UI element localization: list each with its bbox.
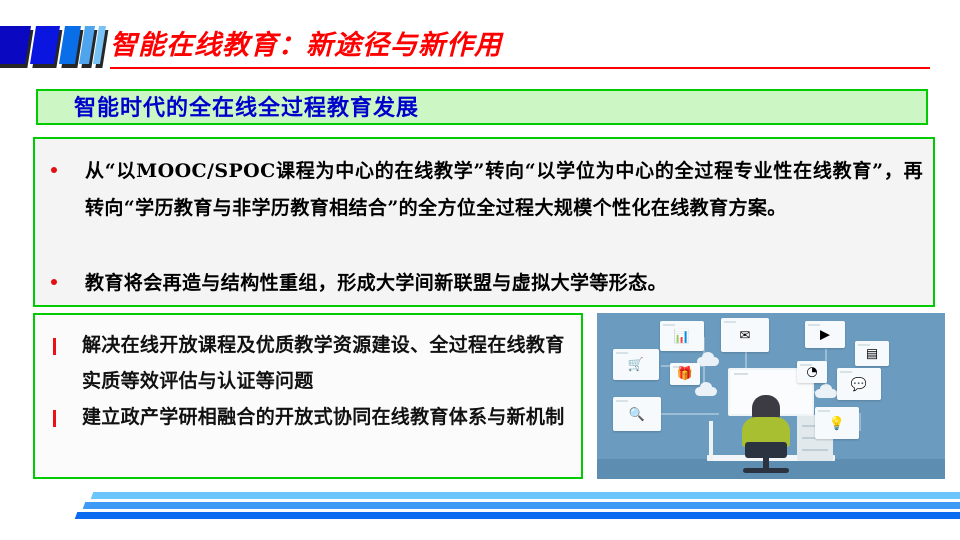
logo-bar-3 — [59, 26, 81, 64]
dot-bullet-icon — [51, 167, 57, 173]
card-email-glyph: ✉ — [740, 329, 751, 342]
main-bullet-item-2: 教育将会再造与结构性重组，形成大学间新联盟与虚拟大学等形态。 — [45, 265, 923, 302]
dot-bullet-icon — [51, 279, 57, 285]
subtitle-text: 智能时代的全在线全过程教育发展 — [74, 95, 419, 123]
wire-icon — [661, 413, 719, 415]
card-bar-chart-glyph: 📊 — [674, 330, 690, 343]
logo-bar-1 — [0, 26, 31, 64]
slide-canvas: 智能在线教育：新途径与新作用 智能时代的全在线全过程教育发展 从“以MOOC/S… — [0, 0, 960, 540]
sub-bullet-item-1: 解决在线开放课程及优质教学资源建设、全过程在线教育实质等效评估与认证等问题 — [45, 327, 573, 399]
card-email: ✉ — [721, 318, 769, 352]
card-lightbulb-glyph: 💡 — [829, 417, 845, 430]
card-search: 🔍 — [613, 397, 661, 431]
card-pie-chart: ◔ — [797, 361, 827, 383]
card-gift-glyph: 🎁 — [677, 368, 693, 381]
card-chat: 💬 — [837, 368, 881, 400]
card-shopping-cart-glyph: 🛒 — [628, 359, 644, 372]
card-gift: 🎁 — [670, 363, 700, 385]
cloud-icon — [697, 357, 719, 366]
card-browser-glyph: ▤ — [866, 348, 878, 361]
sub-bullet-text-2: 建立政产学研相融合的开放式协同在线教育体系与新机制 — [82, 399, 573, 435]
card-pie-chart-glyph: ◔ — [806, 366, 817, 379]
logo-bar-2 — [30, 26, 60, 64]
card-lightbulb: 💡 — [815, 407, 859, 439]
main-bullet-panel: 从“以MOOC/SPOC课程为中心的在线教学”转向“以学位为中心的全过程专业性在… — [33, 137, 935, 307]
vertical-bar-bullet-icon — [53, 338, 56, 355]
wire-icon — [859, 413, 861, 431]
sub-bullet-panel: 解决在线开放课程及优质教学资源建设、全过程在线教育实质等效评估与认证等问题 建立… — [33, 313, 583, 479]
logo-bars-decoration — [0, 26, 108, 72]
vertical-bar-bullet-icon — [53, 410, 56, 427]
cloud-icon — [695, 387, 717, 396]
main-bullet-item-1: 从“以MOOC/SPOC课程为中心的在线教学”转向“以学位为中心的全过程专业性在… — [45, 153, 923, 227]
card-search-glyph: 🔍 — [629, 408, 645, 421]
bottom-stripe-light — [91, 492, 960, 499]
bottom-stripe-dark — [75, 512, 960, 519]
card-chat-glyph: 💬 — [851, 378, 867, 391]
chair-base — [743, 468, 789, 473]
card-video: ▶ — [805, 321, 845, 348]
main-bullet-text-1: 从“以MOOC/SPOC课程为中心的在线教学”转向“以学位为中心的全过程专业性在… — [85, 153, 923, 227]
card-video-glyph: ▶ — [820, 329, 830, 342]
slide-title: 智能在线教育：新途径与新作用 — [110, 27, 930, 69]
illustration-online-education: 🛒📊🎁✉🔍▶◔▤💬💡 — [597, 313, 945, 479]
logo-bar-4 — [79, 26, 95, 64]
sub-bullet-item-2: 建立政产学研相融合的开放式协同在线教育体系与新机制 — [45, 399, 573, 435]
main-bullet-text-2: 教育将会再造与结构性重组，形成大学间新联盟与虚拟大学等形态。 — [85, 265, 923, 302]
desk-leg — [709, 421, 713, 461]
cloud-icon — [815, 389, 837, 398]
subtitle-banner: 智能时代的全在线全过程教育发展 — [36, 89, 928, 125]
card-shopping-cart: 🛒 — [613, 349, 659, 380]
logo-bar-5 — [93, 26, 106, 64]
card-bar-chart: 📊 — [660, 321, 704, 351]
sub-bullet-text-1: 解决在线开放课程及优质教学资源建设、全过程在线教育实质等效评估与认证等问题 — [82, 327, 573, 399]
bottom-stripe-mid — [83, 502, 960, 509]
card-browser: ▤ — [855, 341, 889, 366]
